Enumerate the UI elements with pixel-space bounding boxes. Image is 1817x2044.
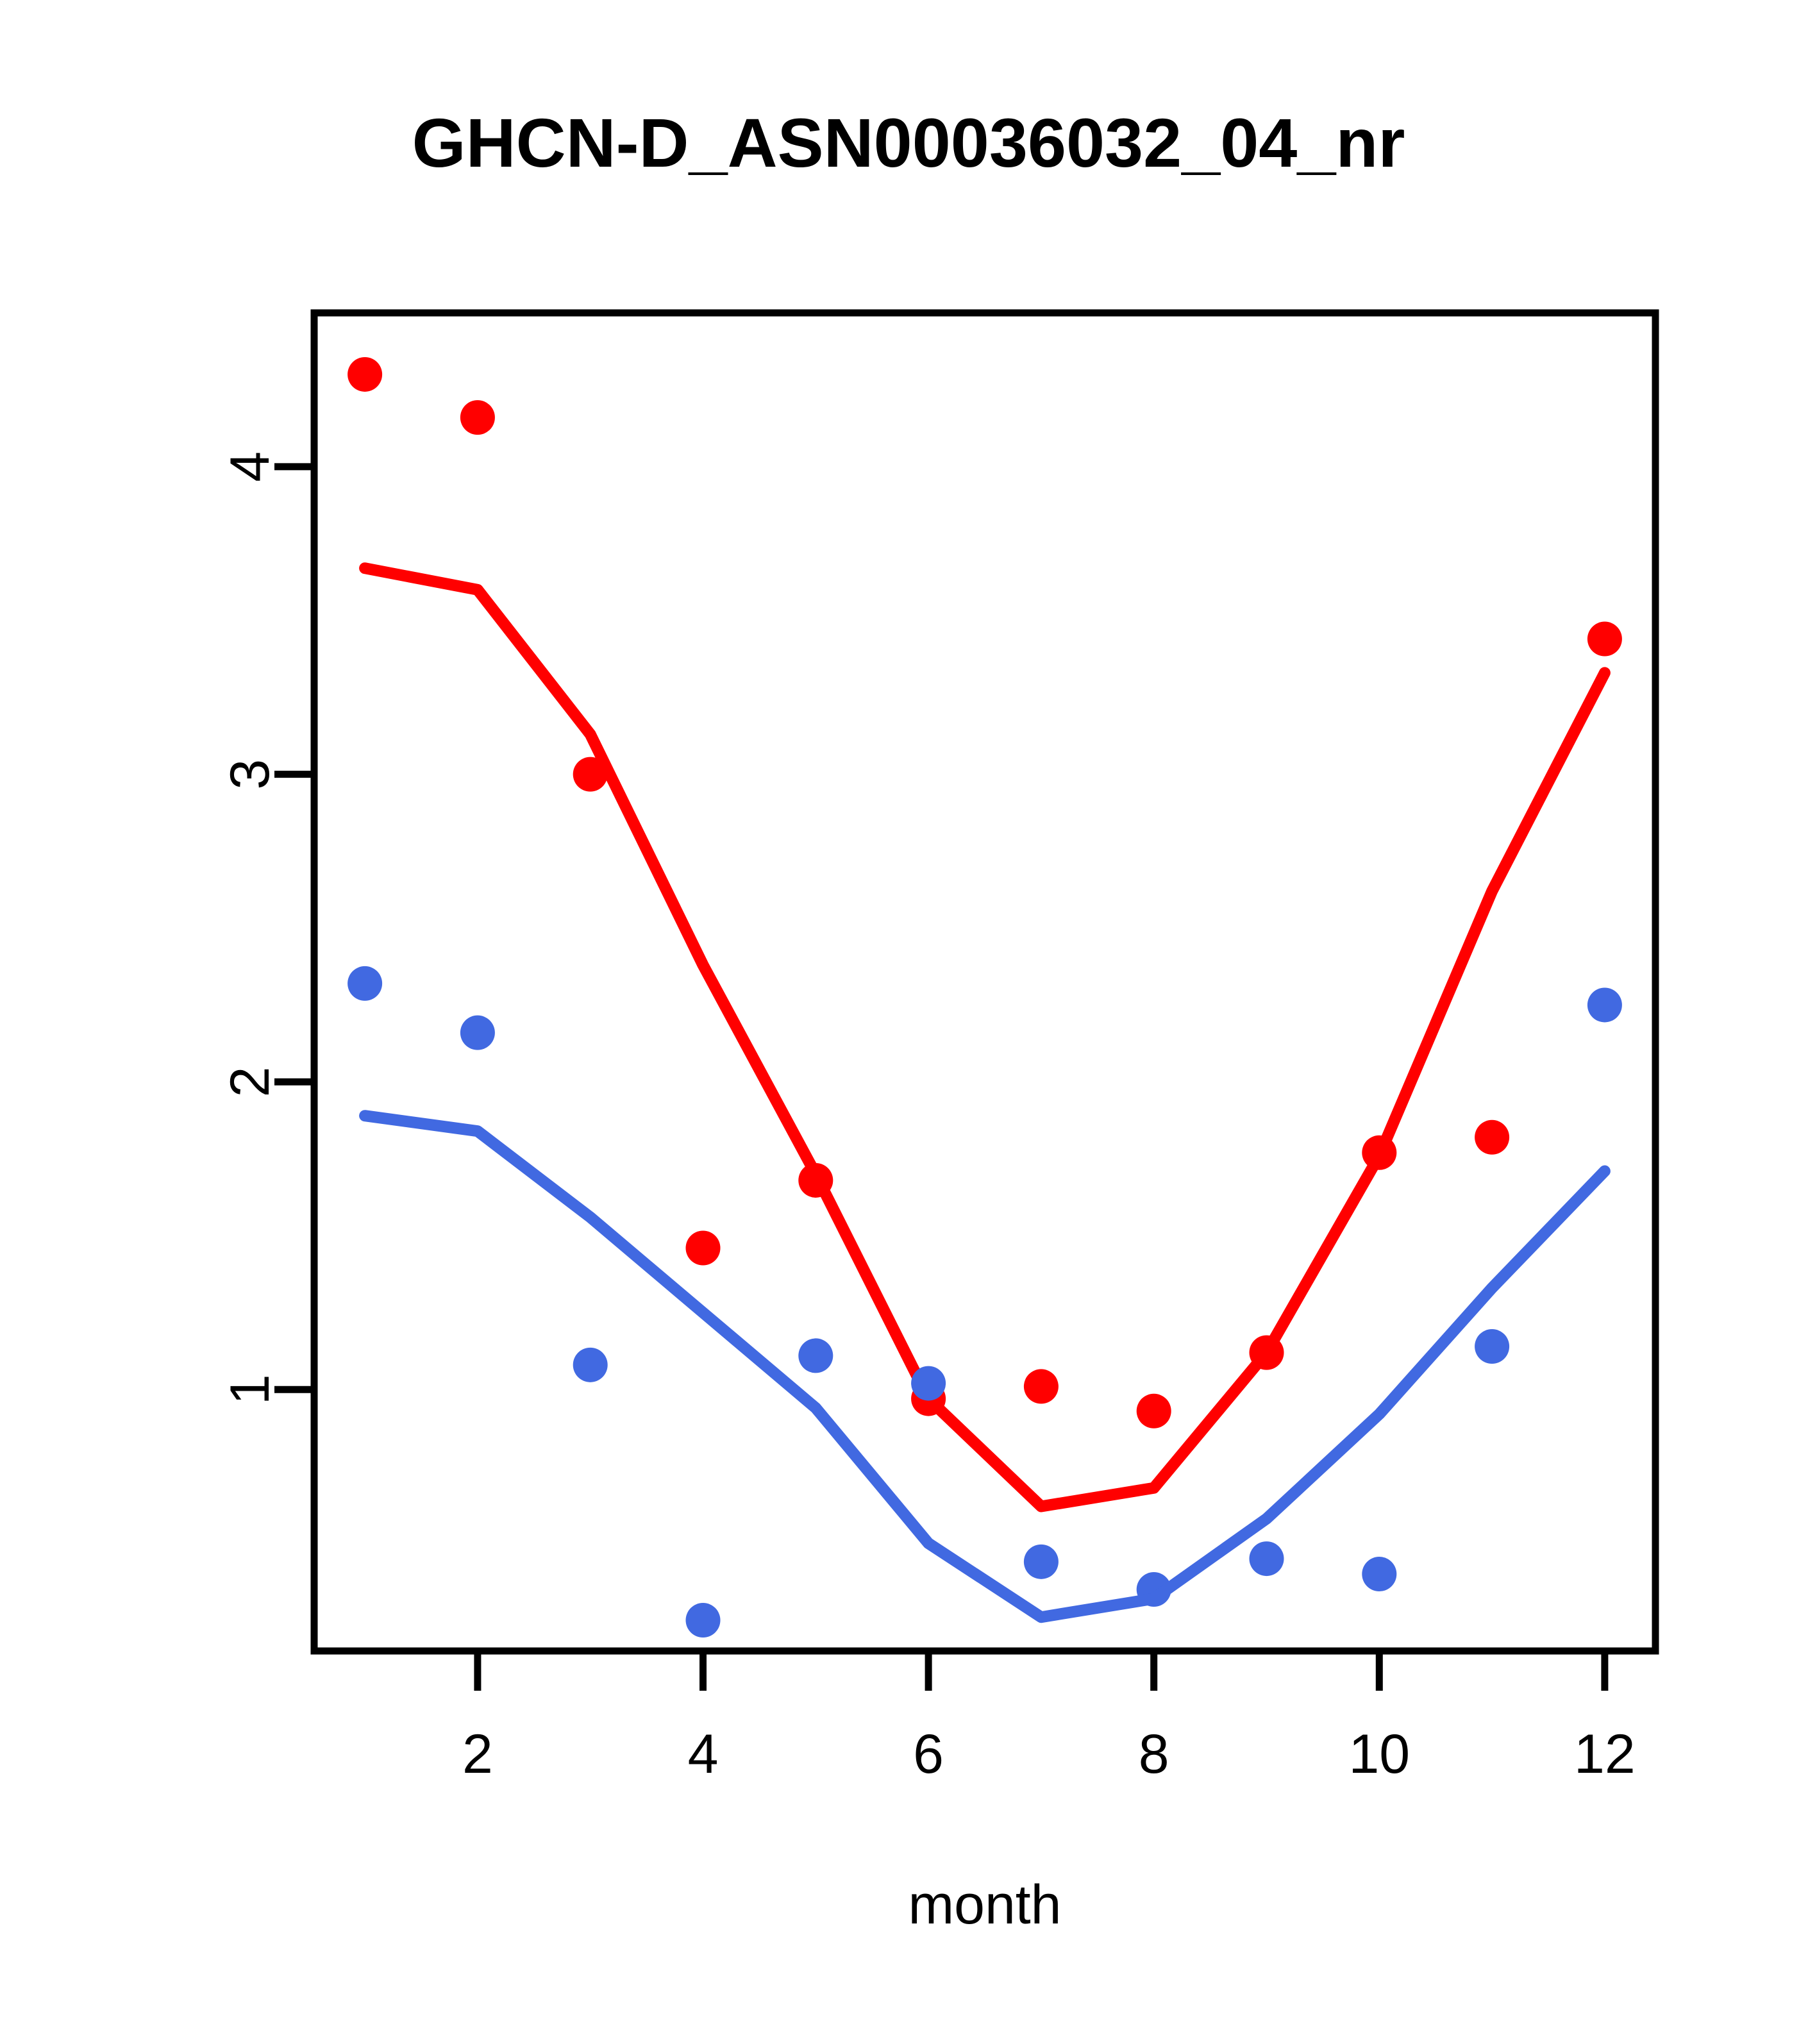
data-point — [1249, 1541, 1284, 1576]
y-tick-label: 3 — [219, 759, 281, 790]
x-tick-label: 4 — [688, 1723, 719, 1785]
data-point — [686, 1603, 721, 1638]
data-point — [1587, 622, 1622, 657]
x-tick-label: 8 — [1139, 1723, 1169, 1785]
plot-canvas: 1234 24681012 month — [0, 0, 1817, 2044]
x-tick-label: 10 — [1348, 1723, 1410, 1785]
series-layer — [347, 357, 1622, 1638]
data-point — [798, 1338, 833, 1373]
y-tick-label: 4 — [219, 451, 281, 482]
data-point — [460, 1016, 495, 1050]
data-point — [347, 966, 382, 1001]
data-point — [347, 357, 382, 392]
series-points-red-points — [347, 357, 1622, 1428]
y-axis: 1234 — [219, 451, 314, 1405]
y-tick-label: 2 — [219, 1067, 281, 1098]
data-point — [1362, 1557, 1396, 1591]
chart-figure: GHCN-D_ASN00036032_04_nr 1234 24681012 m… — [0, 0, 1817, 2044]
series-line-blue-line — [365, 1116, 1605, 1617]
x-tick-label: 6 — [913, 1723, 944, 1785]
data-point — [1024, 1545, 1059, 1579]
y-tick-label: 1 — [219, 1374, 281, 1405]
data-point — [573, 1348, 608, 1382]
data-point — [1475, 1329, 1509, 1364]
x-axis-title: month — [908, 1874, 1061, 1936]
x-tick-label: 2 — [462, 1723, 493, 1785]
data-point — [1024, 1369, 1059, 1403]
data-point — [911, 1366, 946, 1401]
x-tick-label: 12 — [1574, 1723, 1636, 1785]
data-point — [460, 400, 495, 435]
series-points-blue-points — [347, 966, 1622, 1638]
data-point — [1587, 987, 1622, 1022]
data-point — [1137, 1394, 1171, 1428]
data-point — [1475, 1120, 1509, 1155]
x-axis: 24681012 — [462, 1651, 1636, 1785]
data-point — [686, 1231, 721, 1266]
